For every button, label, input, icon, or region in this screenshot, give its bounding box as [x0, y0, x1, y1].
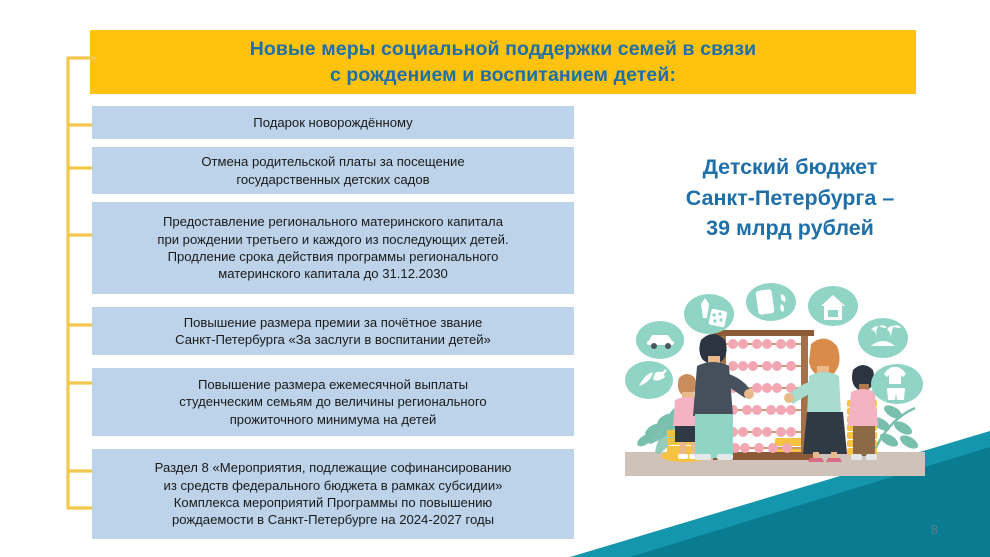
measure-line: прожиточного минимума на детей	[230, 412, 437, 427]
measure-line: государственных детских садов	[236, 172, 429, 187]
title-banner: Новые меры социальной поддержки семей в …	[90, 30, 916, 94]
measure-line: Отмена родительской платы за посещение	[201, 154, 464, 169]
measure-line: рождаемости в Санкт-Петербурге на 2024-2…	[172, 512, 494, 527]
measure-box-regional-maternity-capital[interactable]: Предоставление регионального материнског…	[92, 202, 574, 294]
title-line-2: с рождением и воспитанием детей:	[330, 64, 676, 86]
title-line-1: Новые меры социальной поддержки семей в …	[250, 38, 757, 60]
icon-clothes	[871, 364, 923, 404]
icon-phone	[746, 283, 796, 321]
measure-line: Раздел 8 «Мероприятия, подлежащие софина…	[155, 460, 512, 475]
measure-line: из средств федерального бюджета в рамках…	[164, 478, 503, 493]
budget-line-3: 39 млрд рублей	[706, 216, 874, 240]
measure-text: Предоставление регионального материнског…	[157, 213, 508, 282]
measure-text: Подарок новорождённому	[253, 114, 412, 131]
measure-box-honorary-title-award[interactable]: Повышение размера премии за почётное зва…	[92, 307, 574, 355]
measure-box-section-8-cofinancing[interactable]: Раздел 8 «Мероприятия, подлежащие софина…	[92, 449, 574, 539]
measure-line: Повышение размера ежемесячной выплаты	[198, 377, 468, 392]
budget-line-1: Детский бюджет	[703, 155, 878, 179]
measure-line: студенческим семьям до величины регионал…	[179, 394, 486, 409]
measure-line: Повышение размера премии за почётное зва…	[184, 315, 483, 330]
family-abacus-illustration	[625, 282, 935, 488]
measure-text: Повышение размера премии за почётное зва…	[175, 314, 491, 349]
measure-box-kindergarten-fee[interactable]: Отмена родительской платы за посещение г…	[92, 147, 574, 194]
measure-box-gift-newborn[interactable]: Подарок новорождённому	[92, 106, 574, 139]
icon-car	[636, 321, 684, 359]
icon-vacation	[858, 318, 908, 358]
page-title: Новые меры социальной поддержки семей в …	[250, 36, 757, 89]
figure-man	[693, 334, 754, 460]
measure-text: Отмена родительской платы за посещение г…	[201, 153, 464, 188]
measure-text: Повышение размера ежемесячной выплаты ст…	[179, 376, 486, 428]
plant-right	[870, 403, 920, 454]
measure-line: Комплекса мероприятий Программы по повыш…	[174, 495, 492, 510]
measure-line: Санкт-Петербурга «За заслуги в воспитани…	[175, 332, 491, 347]
measure-line: Продление срока действия программы регио…	[168, 249, 499, 264]
measure-line: материнского капитала до 31.12.2030	[218, 266, 448, 281]
icon-food	[625, 361, 673, 399]
budget-line-2: Санкт-Петербурга –	[686, 186, 895, 210]
measure-text: Раздел 8 «Мероприятия, подлежащие софина…	[155, 459, 512, 528]
icon-medicine	[684, 294, 734, 334]
measure-line: при рождении третьего и каждого из после…	[157, 232, 508, 247]
slide-canvas: Новые меры социальной поддержки семей в …	[0, 0, 990, 557]
icon-house	[808, 286, 858, 326]
measure-line: Предоставление регионального материнског…	[163, 214, 503, 229]
measure-box-student-families-payment[interactable]: Повышение размера ежемесячной выплаты ст…	[92, 368, 574, 436]
page-number: 8	[931, 523, 938, 537]
measure-line: Подарок новорождённому	[253, 115, 412, 130]
budget-heading: Детский бюджет Санкт-Петербурга – 39 млр…	[622, 152, 958, 244]
